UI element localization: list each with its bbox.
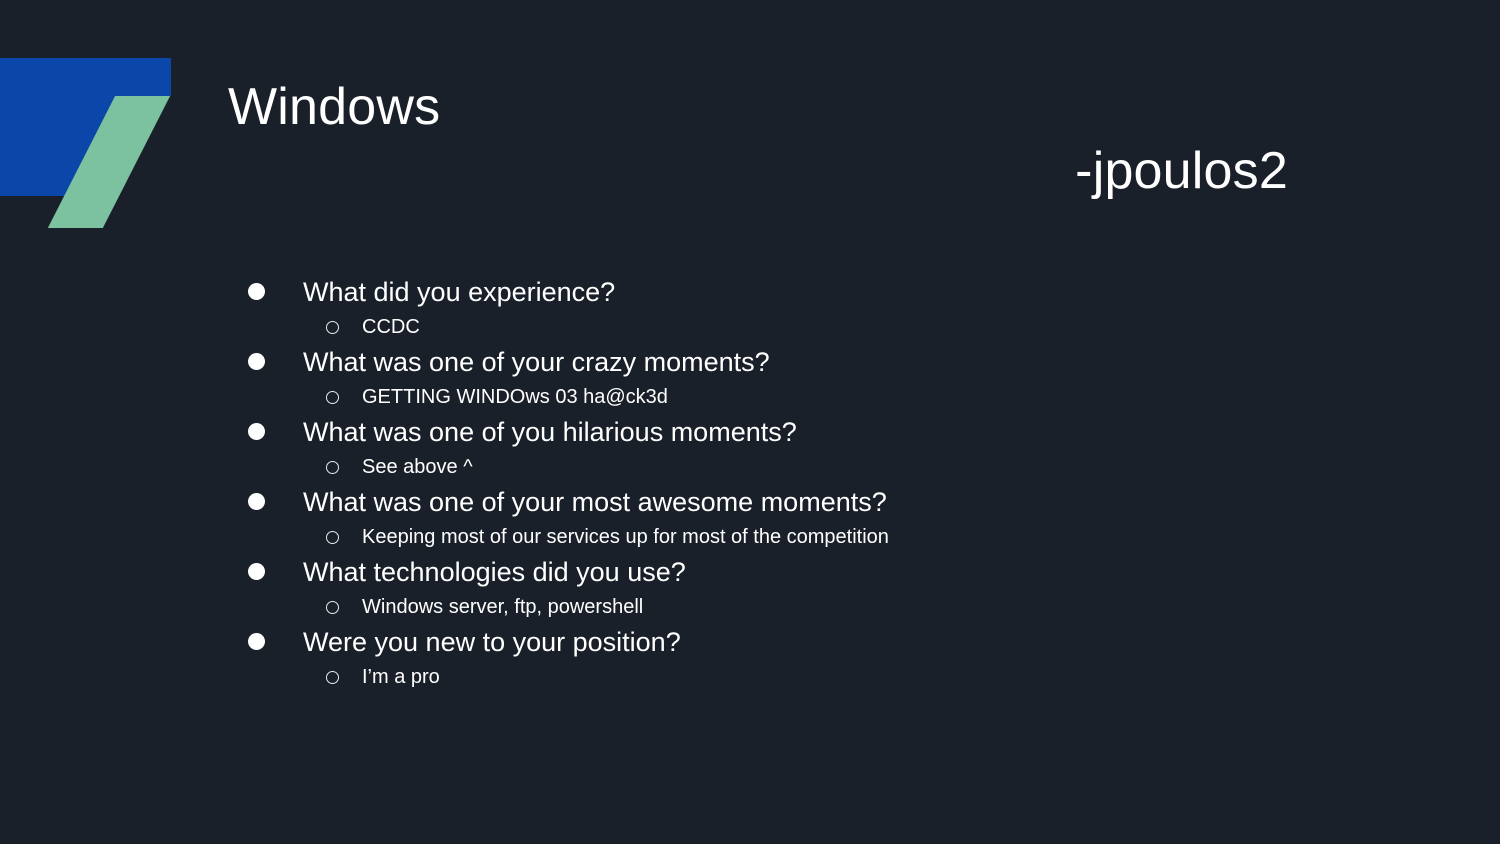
blue-parallelogram-shape [0, 58, 171, 196]
list-item: What was one of your crazy moments? [248, 342, 1428, 382]
list-item-label: What was one of your crazy moments? [303, 342, 770, 382]
list-item-label: CCDC [362, 312, 420, 342]
list-item: What did you experience? [248, 272, 1428, 312]
list-item: Keeping most of our services up for most… [248, 522, 1428, 552]
list-item-label: See above ^ [362, 452, 473, 482]
hollow-circle-bullet-icon [326, 321, 339, 334]
page-title: Windows [228, 78, 1288, 136]
list-item-label: What was one of you hilarious moments? [303, 412, 797, 452]
hollow-circle-bullet-icon [326, 531, 339, 544]
list-item-label: GETTING WINDOws 03 ha@ck3d [362, 382, 668, 412]
green-parallelogram-shape [48, 96, 170, 228]
list-item-label: What technologies did you use? [303, 552, 686, 592]
list-item: See above ^ [248, 452, 1428, 482]
filled-circle-bullet-icon [248, 353, 265, 370]
filled-circle-bullet-icon [248, 283, 265, 300]
list-item: What technologies did you use? [248, 552, 1428, 592]
hollow-circle-bullet-icon [326, 391, 339, 404]
list-item: What was one of you hilarious moments? [248, 412, 1428, 452]
filled-circle-bullet-icon [248, 563, 265, 580]
decorative-corner-graphic [0, 0, 200, 250]
list-item: CCDC [248, 312, 1428, 342]
bullet-list: What did you experience? CCDC What was o… [248, 272, 1428, 692]
filled-circle-bullet-icon [248, 633, 265, 650]
hollow-circle-bullet-icon [326, 601, 339, 614]
list-item: Were you new to your position? [248, 622, 1428, 662]
list-item: GETTING WINDOws 03 ha@ck3d [248, 382, 1428, 412]
list-item: What was one of your most awesome moment… [248, 482, 1428, 522]
hollow-circle-bullet-icon [326, 671, 339, 684]
title-block: Windows -jpoulos2 [228, 78, 1288, 200]
list-item-label: I’m a pro [362, 662, 440, 692]
list-item-label: What did you experience? [303, 272, 615, 312]
filled-circle-bullet-icon [248, 493, 265, 510]
list-item: I’m a pro [248, 662, 1428, 692]
slide: Windows -jpoulos2 What did you experienc… [0, 0, 1500, 844]
hollow-circle-bullet-icon [326, 461, 339, 474]
list-item-label: What was one of your most awesome moment… [303, 482, 887, 522]
list-item: Windows server, ftp, powershell [248, 592, 1428, 622]
list-item-label: Keeping most of our services up for most… [362, 522, 889, 552]
page-subtitle: -jpoulos2 [228, 142, 1288, 200]
list-item-label: Were you new to your position? [303, 622, 681, 662]
list-item-label: Windows server, ftp, powershell [362, 592, 643, 622]
filled-circle-bullet-icon [248, 423, 265, 440]
